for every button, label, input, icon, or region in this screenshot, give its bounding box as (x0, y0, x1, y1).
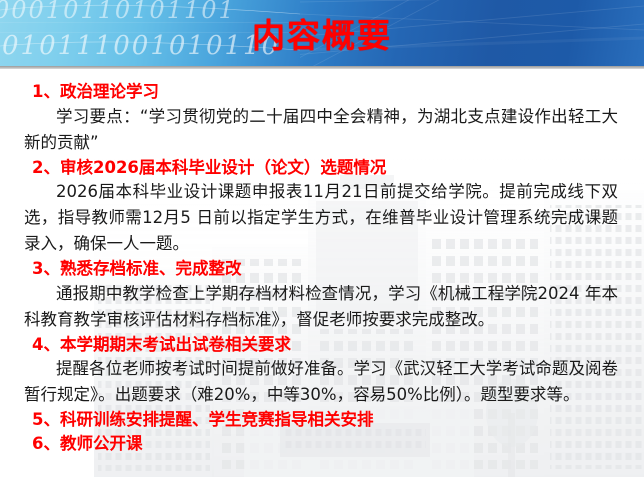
slide-header-banner: 00010110101101 010111001010110 内容概要 (0, 0, 644, 68)
outline-heading: 1、政治理论学习 (32, 80, 632, 104)
page-title: 内容概要 (0, 0, 644, 68)
presentation-slide: 00010110101101 010111001010110 内容概要 (0, 0, 644, 477)
outline-heading: 3、熟悉存档标准、完成整改 (32, 257, 632, 281)
outline-body: 2026届本科毕业设计课题申报表11月21日前提交给学院。提前完成线下双选，指导… (24, 179, 632, 257)
outline-item: 3、熟悉存档标准、完成整改 通报期中教学检查上学期存档材料检查情况，学习《机械工… (12, 257, 632, 333)
outline-item: 1、政治理论学习 学习要点：“学习贯彻党的二十届四中全会精神，为湖北支点建设作出… (12, 80, 632, 156)
outline-heading: 2、审核2026届本科毕业设计（论文）选题情况 (32, 156, 632, 180)
header-divider (0, 66, 644, 69)
outline-body: 通报期中教学检查上学期存档材料检查情况，学习《机械工程学院2024 年本科教育教… (24, 281, 632, 333)
slide-body: 1、政治理论学习 学习要点：“学习贯彻党的二十届四中全会精神，为湖北支点建设作出… (0, 72, 644, 477)
outline-body: 提醒各位老师按考试时间提前做好准备。学习《武汉轻工大学考试命题及阅卷暂行规定》。… (24, 356, 632, 408)
outline-item: 6、教师公开课 (12, 432, 632, 456)
outline-heading: 4、本学期期末考试出试卷相关要求 (32, 333, 632, 357)
outline-body: 学习要点：“学习贯彻党的二十届四中全会精神，为湖北支点建设作出轻工大新的贡献” (24, 104, 632, 156)
outline-item: 5、科研训练安排提醒、学生竞赛指导相关安排 (12, 408, 632, 432)
outline-item: 2、审核2026届本科毕业设计（论文）选题情况 2026届本科毕业设计课题申报表… (12, 156, 632, 258)
outline-item: 4、本学期期末考试出试卷相关要求 提醒各位老师按考试时间提前做好准备。学习《武汉… (12, 333, 632, 409)
outline-heading: 6、教师公开课 (32, 432, 632, 456)
outline-heading: 5、科研训练安排提醒、学生竞赛指导相关安排 (32, 408, 632, 432)
